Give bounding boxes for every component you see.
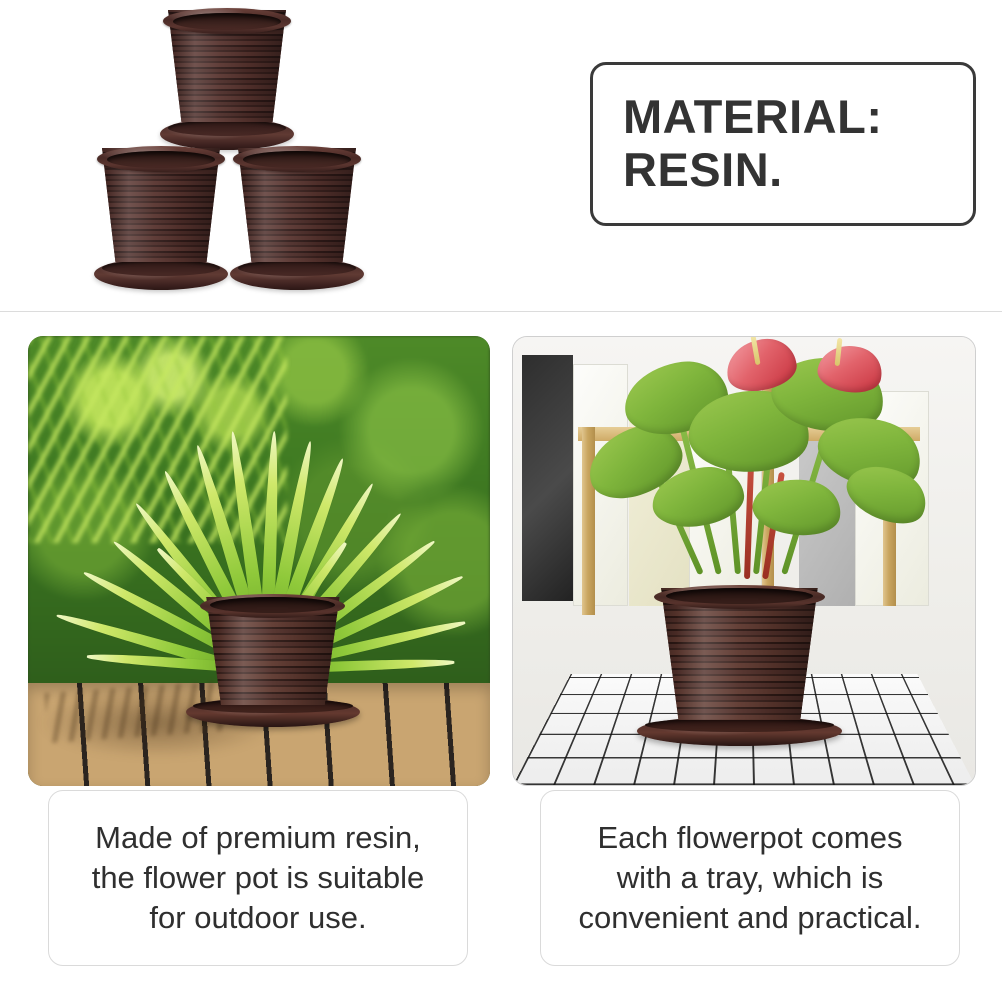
pot-rim bbox=[163, 8, 292, 34]
product-group-shot bbox=[78, 2, 378, 302]
pot-rim bbox=[97, 146, 226, 172]
pot-mouth bbox=[210, 597, 335, 613]
product-infographic: MATERIAL: RESIN. bbox=[0, 0, 1002, 1002]
pot-rim bbox=[654, 585, 825, 609]
pot-saucer bbox=[94, 258, 228, 290]
section-divider bbox=[0, 311, 1002, 312]
caption-text-right: Each flowerpot comes with a tray, which … bbox=[579, 818, 922, 939]
caption-line: convenient and practical. bbox=[579, 898, 922, 938]
caption-line: with a tray, which is bbox=[579, 858, 922, 898]
pot-saucer bbox=[637, 716, 842, 746]
photo-panel-left bbox=[28, 336, 490, 786]
photo-panel-right bbox=[512, 336, 976, 786]
material-label-line1: MATERIAL: bbox=[623, 91, 943, 144]
saucer-inner-lip bbox=[168, 120, 286, 136]
product-pot-bottom-left bbox=[94, 148, 228, 290]
caption-box-left: Made of premium resin, the flower pot is… bbox=[48, 790, 468, 966]
material-callout-box: MATERIAL: RESIN. bbox=[590, 62, 976, 226]
pot-rim bbox=[233, 146, 362, 172]
pot-saucer bbox=[160, 118, 294, 150]
saucer-inner-lip bbox=[102, 260, 220, 276]
top-section: MATERIAL: RESIN. bbox=[0, 0, 1002, 311]
saucer-inner-lip bbox=[645, 718, 834, 732]
material-label-line2: RESIN. bbox=[623, 144, 943, 197]
product-pot-in-scene-right bbox=[652, 588, 826, 746]
pot-mouth bbox=[243, 151, 351, 168]
caption-line: Each flowerpot comes bbox=[579, 818, 922, 858]
anthurium-plant bbox=[513, 346, 975, 624]
product-pot-bottom-right bbox=[230, 148, 364, 290]
caption-line: for outdoor use. bbox=[92, 898, 425, 938]
pot-rim bbox=[200, 594, 345, 618]
product-pot-top bbox=[160, 10, 294, 150]
caption-line: Made of premium resin, bbox=[92, 818, 425, 858]
pot-mouth bbox=[107, 151, 215, 168]
pot-mouth bbox=[666, 588, 813, 604]
caption-text-left: Made of premium resin, the flower pot is… bbox=[92, 818, 425, 939]
caption-box-right: Each flowerpot comes with a tray, which … bbox=[540, 790, 960, 966]
pot-mouth bbox=[173, 13, 281, 30]
caption-line: the flower pot is suitable bbox=[92, 858, 425, 898]
product-pot-in-scene-left bbox=[199, 597, 347, 727]
saucer-inner-lip bbox=[238, 260, 356, 276]
pot-saucer bbox=[230, 258, 364, 290]
